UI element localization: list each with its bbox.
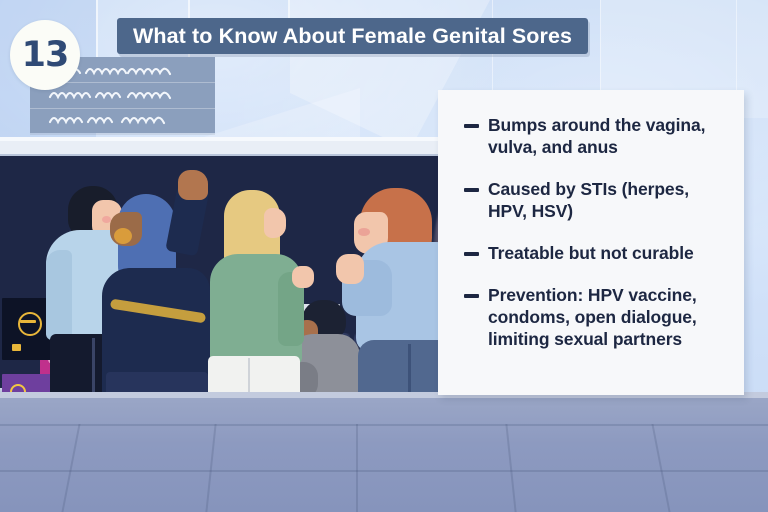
fact-text-4: Prevention: HPV vaccine, condoms, open d… bbox=[488, 284, 724, 350]
fact-text-2: Caused by STIs (herpes, HPV, HSV) bbox=[488, 178, 724, 222]
fact-text-3: Treatable but not curable bbox=[488, 242, 694, 264]
ceiling-rod-3 bbox=[288, 0, 290, 20]
floor-tile-line-v5 bbox=[651, 424, 670, 512]
fact-bullet-1: Bumps around the vagina, vulva, and anus bbox=[464, 114, 724, 158]
floor-tile-line-v1 bbox=[61, 424, 80, 512]
floor-tile-line-v2 bbox=[205, 424, 216, 512]
dash-icon bbox=[464, 124, 479, 128]
fact-bullet-4: Prevention: HPV vaccine, condoms, open d… bbox=[464, 284, 724, 350]
dash-icon bbox=[464, 188, 479, 192]
blonde-hand bbox=[292, 266, 314, 288]
fact-text-1: Bumps around the vagina, vulva, and anus bbox=[488, 114, 724, 158]
slide-number-text: 13 bbox=[22, 35, 69, 75]
fact-bullet-2: Caused by STIs (herpes, HPV, HSV) bbox=[464, 178, 724, 222]
floor-tile-line-v4 bbox=[505, 424, 516, 512]
red-hair-hand bbox=[336, 254, 364, 284]
slide-number-badge: 13 bbox=[10, 20, 80, 90]
headscarf-earring bbox=[114, 228, 132, 244]
floor-tile-line-h2 bbox=[0, 470, 768, 472]
infographic-canvas: 13 What to Know About Female Genital Sor… bbox=[0, 0, 768, 512]
window-mullion-3 bbox=[736, 0, 737, 90]
dark-hair-sleeve bbox=[46, 250, 72, 340]
floor-tile-line-v3 bbox=[356, 424, 358, 512]
key-facts-panel: Bumps around the vagina, vulva, and anus… bbox=[438, 90, 744, 395]
blonde-face bbox=[264, 208, 286, 238]
shelf-top-ledge bbox=[0, 141, 472, 156]
dash-icon bbox=[464, 252, 479, 256]
page-title: What to Know About Female Genital Sores bbox=[133, 24, 572, 49]
red-hair-cheek bbox=[358, 228, 370, 236]
title-banner: What to Know About Female Genital Sores bbox=[117, 18, 588, 54]
fact-bullet-3: Treatable but not curable bbox=[464, 242, 724, 264]
store-floor bbox=[0, 398, 768, 512]
dash-icon bbox=[464, 294, 479, 298]
